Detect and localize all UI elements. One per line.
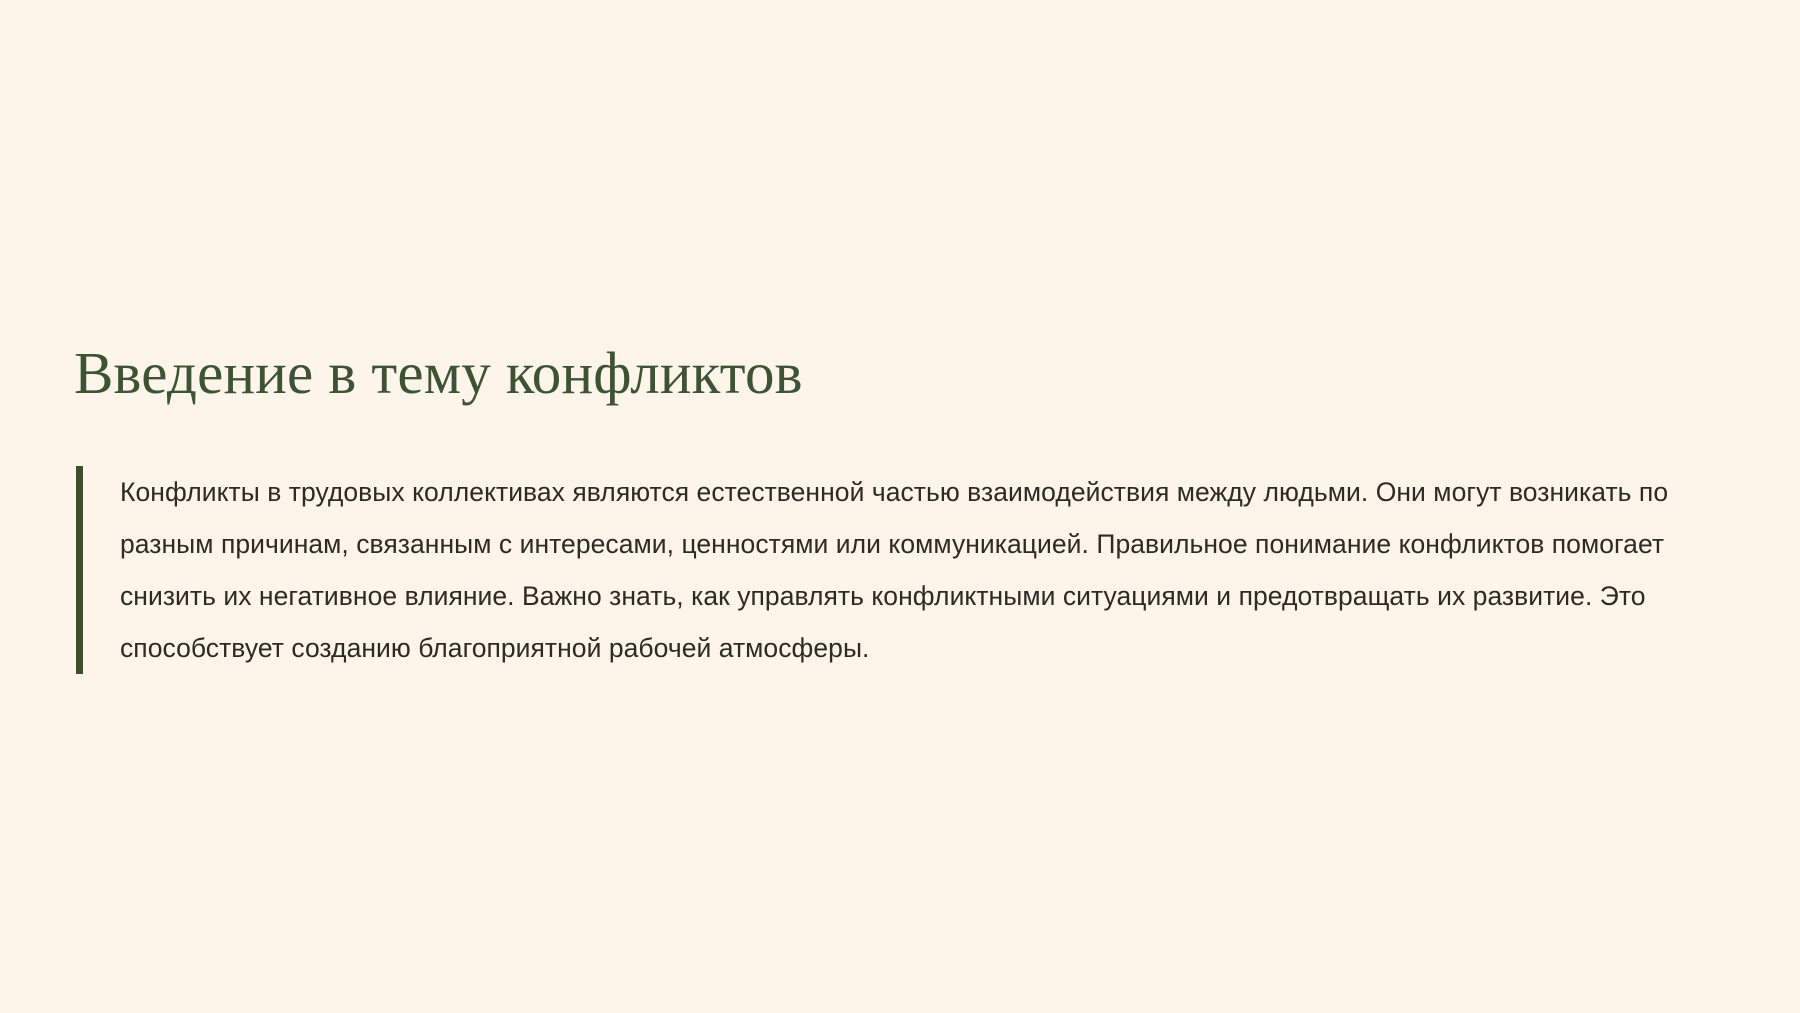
accent-bar (76, 466, 83, 674)
body-paragraph: Конфликты в трудовых коллективах являютс… (83, 466, 1726, 674)
body-callout: Конфликты в трудовых коллективах являютс… (76, 466, 1726, 674)
page-title: Введение в тему конфликтов (74, 342, 1724, 406)
slide-canvas: Введение в тему конфликтов Конфликты в т… (0, 0, 1800, 1013)
